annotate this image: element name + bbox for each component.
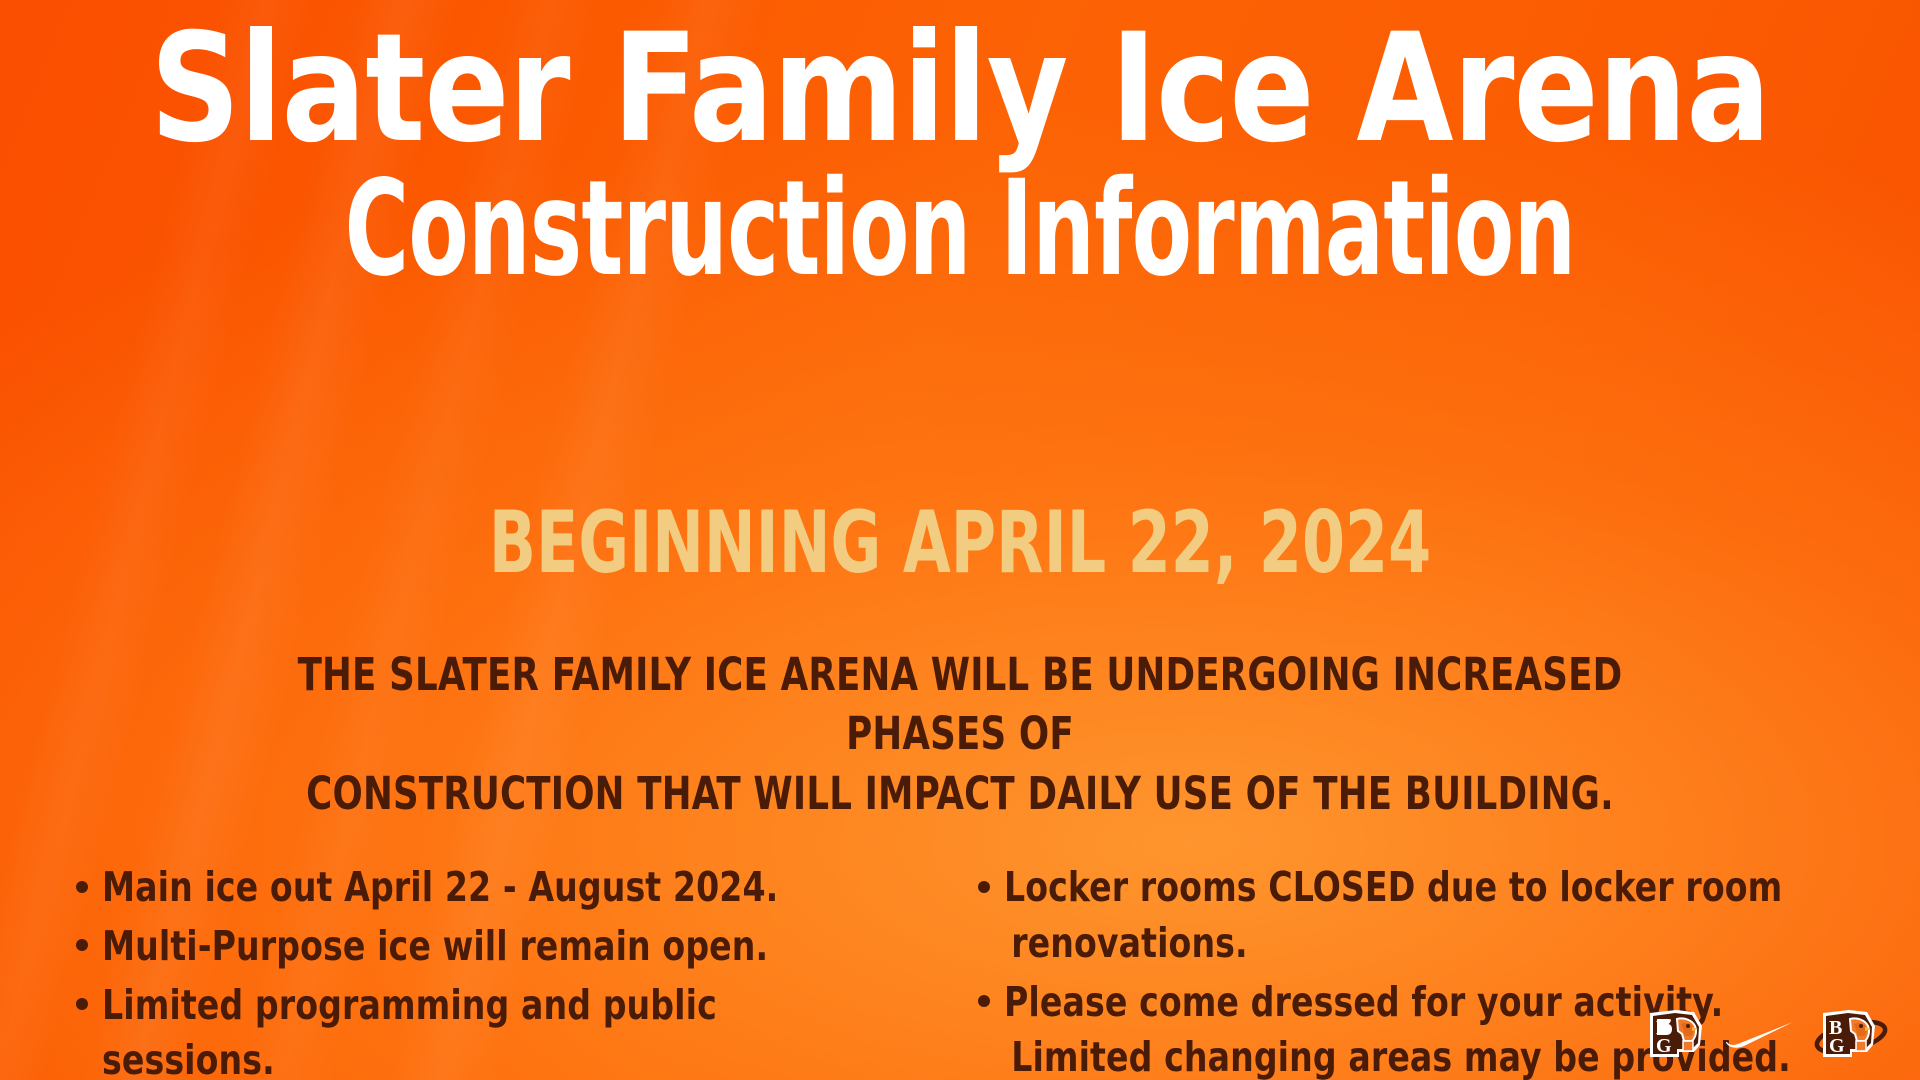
svg-text:G: G <box>1829 1035 1845 1057</box>
start-date-line: BEGINNING APRIL 22, 2024 <box>192 500 1728 586</box>
bullet-text: Limited programming and public sessions. <box>102 978 860 1080</box>
bgsu-falcon-orbit-logo: B G <box>1812 1006 1890 1064</box>
left-bullet-list: Main ice out April 22 - August 2024. Mul… <box>72 860 944 1080</box>
list-item: Multi-Purpose ice will remain open. <box>72 919 944 975</box>
list-item: Limited programming and public sessions. <box>72 978 944 1080</box>
bullet-dot-icon <box>76 881 88 893</box>
bullet-dot-icon <box>978 881 990 893</box>
bullet-text: Locker rooms CLOSED due to locker room <box>1004 860 1805 916</box>
title-block: Slater Family Ice Arena Construction Inf… <box>0 14 1920 300</box>
bgsu-falcon-orbit-logo-slot: B G <box>1812 1006 1890 1064</box>
left-bullet-column: Main ice out April 22 - August 2024. Mul… <box>0 860 960 1080</box>
bullet-dot-icon <box>76 939 88 951</box>
bullet-text: Multi-Purpose ice will remain open. <box>102 919 860 975</box>
nike-swoosh-logo <box>1724 1019 1796 1051</box>
banner-title-primary: Slater Family Ice Arena <box>67 14 1853 164</box>
bullet-columns: Main ice out April 22 - August 2024. Mul… <box>0 860 1920 1080</box>
bullet-text: Main ice out April 22 - August 2024. <box>102 860 860 916</box>
bullet-dot-icon <box>978 995 990 1007</box>
bullet-dot-icon <box>76 998 88 1010</box>
logo-row: B G B G <box>1646 1006 1890 1064</box>
intro-paragraph: THE SLATER FAMILY ICE ARENA WILL BE UNDE… <box>110 645 1810 823</box>
intro-line-2: CONSTRUCTION THAT WILL IMPACT DAILY USE … <box>212 764 1708 823</box>
bgsu-falcon-logo: B G <box>1646 1006 1708 1064</box>
banner-title-secondary: Construction Information <box>250 160 1671 300</box>
bgsu-falcon-logo-slot: B G <box>1646 1006 1708 1064</box>
nike-swoosh-logo-slot <box>1724 1019 1796 1051</box>
intro-line-1: THE SLATER FAMILY ICE ARENA WILL BE UNDE… <box>212 645 1708 764</box>
svg-text:G: G <box>1656 1035 1672 1057</box>
construction-information-banner: Slater Family Ice Arena Construction Inf… <box>0 0 1920 1080</box>
bullet-text-continuation: renovations. <box>1004 916 1805 972</box>
list-item: Locker rooms CLOSED due to locker room r… <box>974 860 1894 972</box>
list-item: Main ice out April 22 - August 2024. <box>72 860 944 916</box>
